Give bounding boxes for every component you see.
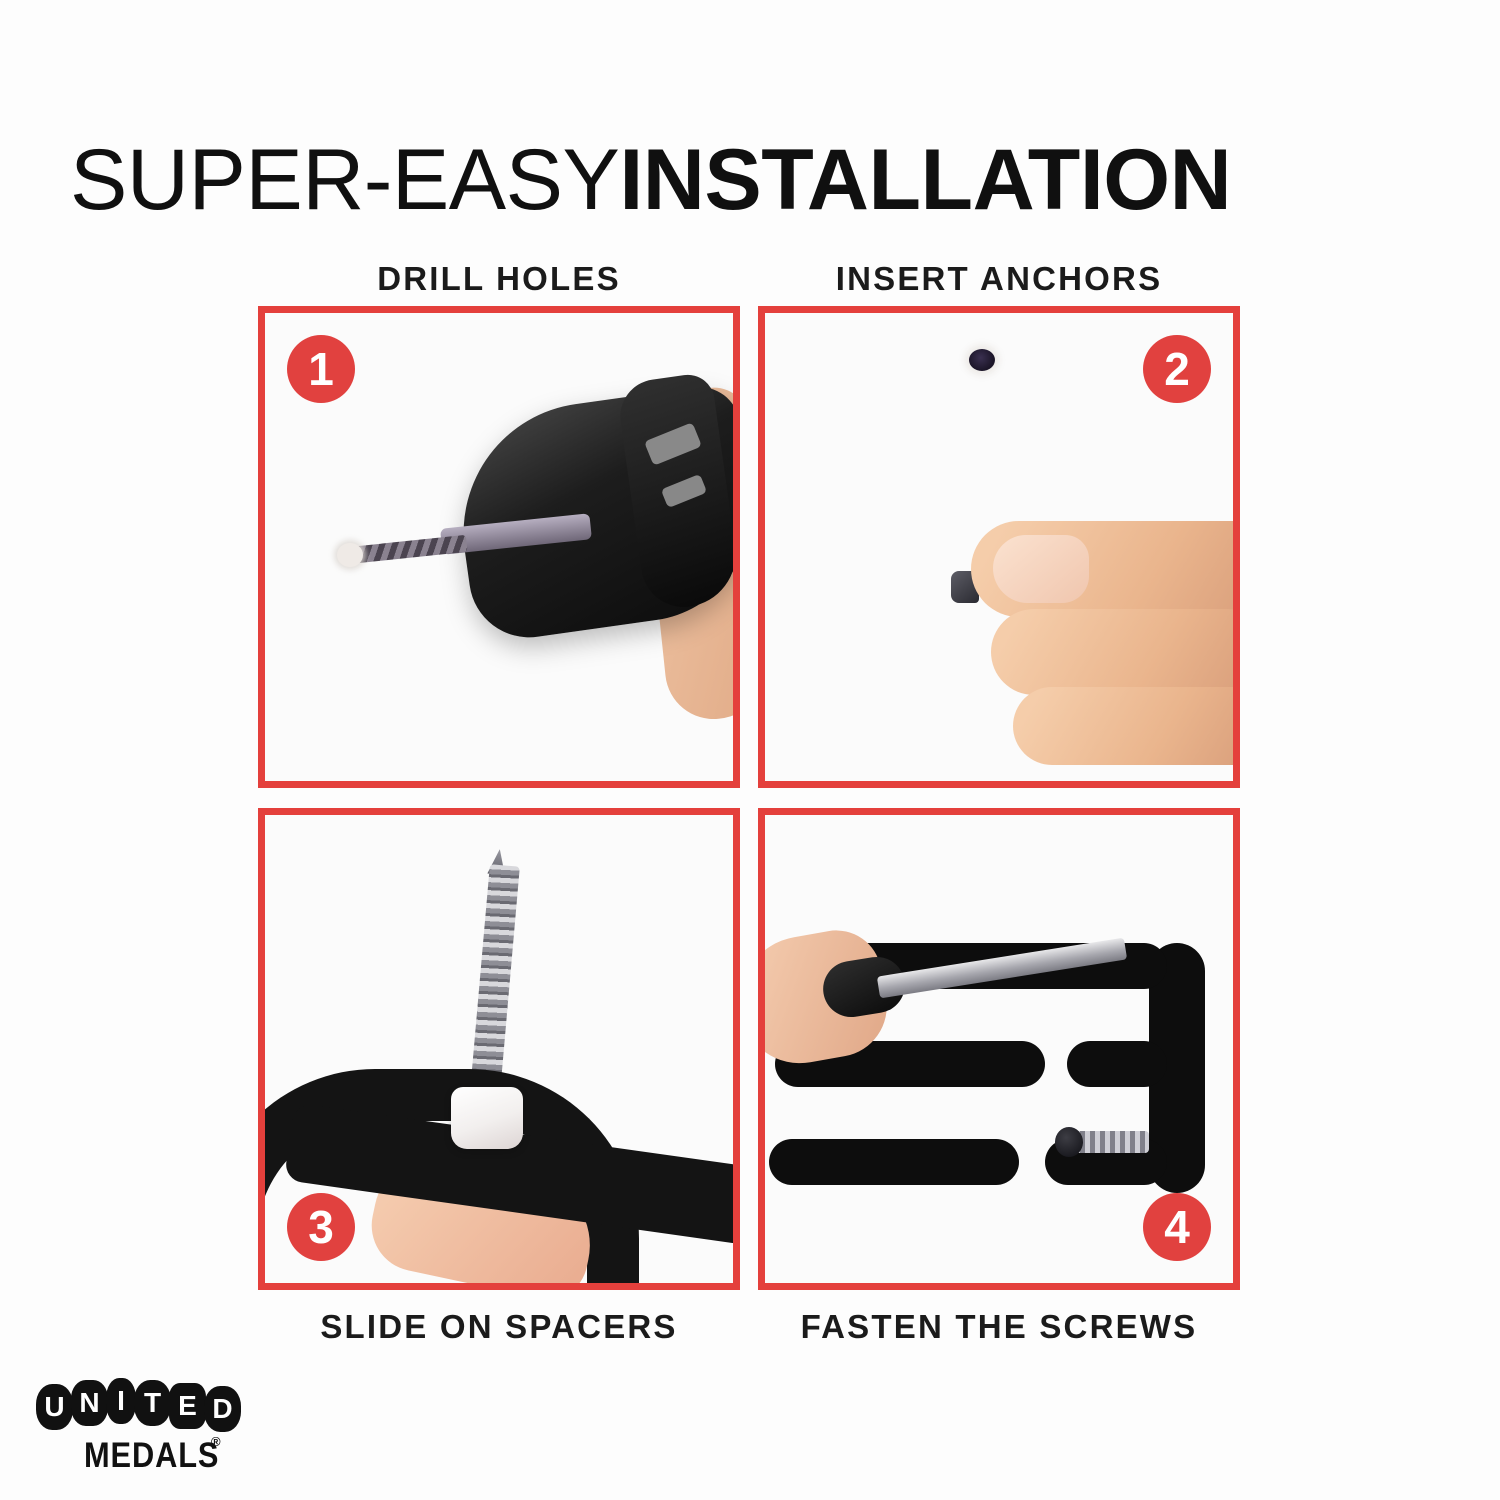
step-caption-1: DRILL HOLES [258, 260, 740, 298]
drill-dust-icon [337, 543, 363, 567]
installation-steps-grid: DRILL HOLES 1 INSERT ANCHORS [258, 248, 1248, 1348]
step-cell-3: 3 SLIDE ON SPACERS [258, 808, 740, 1290]
logo-letter-badge: I [106, 1378, 136, 1424]
drilled-hole-icon [969, 349, 995, 371]
logo-letter-badge: T [134, 1380, 171, 1426]
spacer-icon [451, 1087, 523, 1149]
title-bold-part: INSTALLATION [619, 132, 1231, 228]
logo-united-word: U N I T E D [36, 1378, 239, 1432]
page-title: SUPER-EASYINSTALLATION [70, 134, 1231, 226]
screw-head-icon [1055, 1127, 1083, 1157]
step-badge-4: 4 [1143, 1193, 1211, 1261]
step-photo-3: 3 [258, 808, 740, 1290]
hand-icon [991, 609, 1240, 695]
logo-letter-badge: N [71, 1380, 108, 1426]
hand-icon [1013, 687, 1240, 765]
step-caption-4: FASTEN THE SCREWS [758, 1308, 1240, 1346]
screw-icon [1075, 1131, 1149, 1153]
brand-logo: U N I T E D MEDALS ® [28, 1378, 268, 1490]
step-caption-3: SLIDE ON SPACERS [258, 1308, 740, 1346]
step-badge-1: 1 [287, 335, 355, 403]
rack-bar-icon [769, 1139, 1019, 1185]
step-photo-4: 4 [758, 808, 1240, 1290]
logo-letter-badge: D [204, 1386, 241, 1432]
step-cell-2: INSERT ANCHORS 2 [758, 306, 1240, 788]
fingernail-icon [993, 535, 1089, 603]
logo-letter-badge: U [36, 1384, 73, 1430]
logo-medals-word: MEDALS [84, 1436, 219, 1476]
step-badge-3: 3 [287, 1193, 355, 1261]
step-cell-1: DRILL HOLES 1 [258, 306, 740, 788]
step-badge-2: 2 [1143, 335, 1211, 403]
step-cell-4: 4 FASTEN THE SCREWS [758, 808, 1240, 1290]
step-photo-2: 2 [758, 306, 1240, 788]
logo-letter-badge: E [169, 1383, 206, 1429]
title-light-part: SUPER-EASY [70, 132, 619, 228]
registered-trademark-icon: ® [211, 1434, 221, 1449]
step-photo-1: 1 [258, 306, 740, 788]
rack-bar-icon [1067, 1041, 1167, 1087]
step-caption-2: INSERT ANCHORS [758, 260, 1240, 298]
